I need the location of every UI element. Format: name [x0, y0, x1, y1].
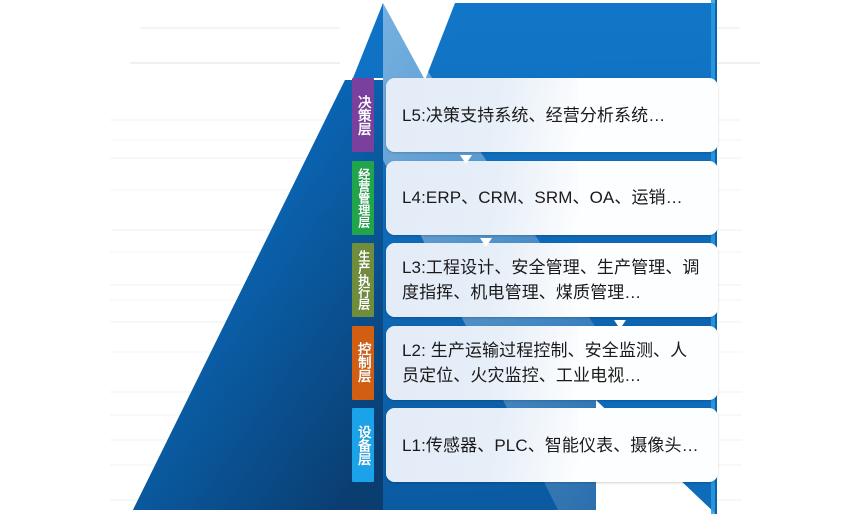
layer-row-l4[interactable]: 经营管理层 L4:ERP、CRM、SRM、OA、运销…: [352, 161, 718, 235]
pyramid-diagram-canvas: 决策层 L5:决策支持系统、经营分析系统… 经营管理层 L4:ERP、CRM、S…: [0, 0, 856, 514]
layer-card-l1[interactable]: L1:传感器、PLC、智能仪表、摄像头…: [386, 408, 718, 482]
flow-arrow-down-icon-3: [614, 320, 626, 329]
layer-text-l1: L1:传感器、PLC、智能仪表、摄像头…: [402, 433, 699, 458]
layer-card-l3[interactable]: L3:工程设计、安全管理、生产管理、调度指挥、机电管理、煤质管理…: [386, 243, 718, 317]
layer-row-l5[interactable]: 决策层 L5:决策支持系统、经营分析系统…: [352, 78, 718, 152]
layer-tag-l2[interactable]: 控制层: [352, 326, 374, 400]
flow-arrow-down-icon-4: [726, 403, 738, 412]
layer-card-l4[interactable]: L4:ERP、CRM、SRM、OA、运销…: [386, 161, 718, 235]
layer-tag-l1[interactable]: 设备层: [352, 408, 374, 482]
layer-text-l4: L4:ERP、CRM、SRM、OA、运销…: [402, 185, 683, 210]
layer-tag-l5[interactable]: 决策层: [352, 78, 374, 152]
layer-tag-l3[interactable]: 生产执行层: [352, 243, 374, 317]
layer-row-l3[interactable]: 生产执行层 L3:工程设计、安全管理、生产管理、调度指挥、机电管理、煤质管理…: [352, 243, 718, 317]
flow-arrow-down-icon-2: [480, 238, 492, 247]
layer-text-l3: L3:工程设计、安全管理、生产管理、调度指挥、机电管理、煤质管理…: [402, 255, 702, 305]
layer-row-l1[interactable]: 设备层 L1:传感器、PLC、智能仪表、摄像头…: [352, 408, 718, 482]
layer-stack: 决策层 L5:决策支持系统、经营分析系统… 经营管理层 L4:ERP、CRM、S…: [352, 78, 718, 482]
flow-arrow-down-icon-5: [738, 485, 750, 494]
layer-text-l2: L2: 生产运输过程控制、安全监测、人员定位、火灾监控、工业电视…: [402, 338, 702, 388]
layer-card-l5[interactable]: L5:决策支持系统、经营分析系统…: [386, 78, 718, 152]
flow-arrow-down-icon-1: [460, 155, 472, 164]
layer-tag-l4[interactable]: 经营管理层: [352, 161, 374, 235]
layer-row-l2[interactable]: 控制层 L2: 生产运输过程控制、安全监测、人员定位、火灾监控、工业电视…: [352, 326, 718, 400]
layer-text-l5: L5:决策支持系统、经营分析系统…: [402, 103, 665, 128]
layer-card-l2[interactable]: L2: 生产运输过程控制、安全监测、人员定位、火灾监控、工业电视…: [386, 326, 718, 400]
